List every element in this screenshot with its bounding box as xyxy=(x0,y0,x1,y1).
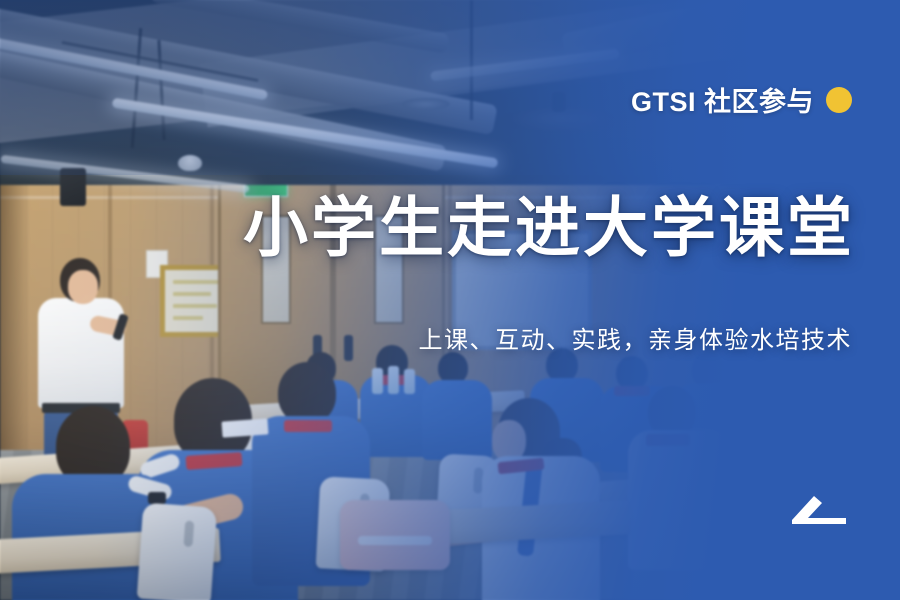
angle-arrow-icon xyxy=(788,492,850,524)
notice-board xyxy=(160,265,226,337)
red-scarf xyxy=(284,420,332,432)
kicker-row: GTSI 社区参与 xyxy=(631,80,852,119)
red-scarf xyxy=(614,386,650,396)
wristwatch xyxy=(148,492,166,504)
pink-bag xyxy=(340,500,450,570)
page-subtitle: 上课、互动、实践，亲身体验水培技术 xyxy=(419,320,853,355)
door-handle xyxy=(344,335,353,361)
dome-camera xyxy=(178,155,202,171)
red-scarf xyxy=(646,434,690,446)
teacher-shirt xyxy=(38,298,124,408)
student-uniform xyxy=(628,430,732,570)
page-title: 小学生走进大学课堂 xyxy=(243,194,855,262)
promo-banner: GTSI 社区参与 小学生走进大学课堂 上课、互动、实践，亲身体验水培技术 xyxy=(0,0,900,600)
bag-strap xyxy=(358,536,432,545)
water-bottle xyxy=(404,369,415,394)
water-bottle xyxy=(388,366,399,394)
ceiling-fan xyxy=(402,98,450,110)
white-chair xyxy=(137,503,218,600)
student-uniform xyxy=(422,380,492,460)
teacher-face xyxy=(68,270,98,304)
ceiling-pipe xyxy=(470,0,473,120)
notebook xyxy=(221,418,268,437)
wall-speaker xyxy=(60,168,86,206)
angle-arrow-path xyxy=(792,496,846,524)
student-head xyxy=(278,362,336,424)
student-head xyxy=(616,356,648,390)
student-head xyxy=(692,352,726,388)
water-bottle xyxy=(372,368,383,394)
wall-shadow xyxy=(0,150,30,450)
yellow-dot-icon xyxy=(826,87,852,113)
kicker-label: GTSI 社区参与 xyxy=(631,80,814,119)
notebook xyxy=(689,458,744,480)
ceiling-fan xyxy=(500,108,620,134)
